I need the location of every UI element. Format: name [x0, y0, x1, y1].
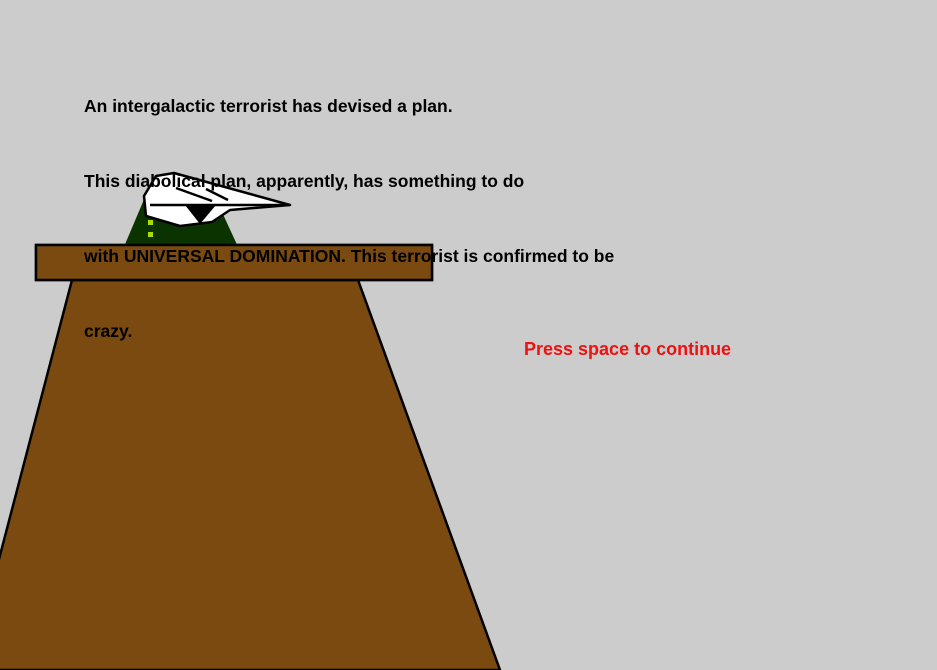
- game-screen: An intergalactic terrorist has devised a…: [0, 0, 937, 670]
- narration-line-2: This diabolical plan, apparently, has so…: [84, 169, 884, 194]
- narration-text: An intergalactic terrorist has devised a…: [84, 44, 884, 394]
- narration-line-4: crazy.: [84, 319, 884, 344]
- narration-line-1: An intergalactic terrorist has devised a…: [84, 94, 884, 119]
- narration-line-3: with UNIVERSAL DOMINATION. This terroris…: [84, 244, 884, 269]
- press-space-prompt[interactable]: Press space to continue: [524, 339, 731, 360]
